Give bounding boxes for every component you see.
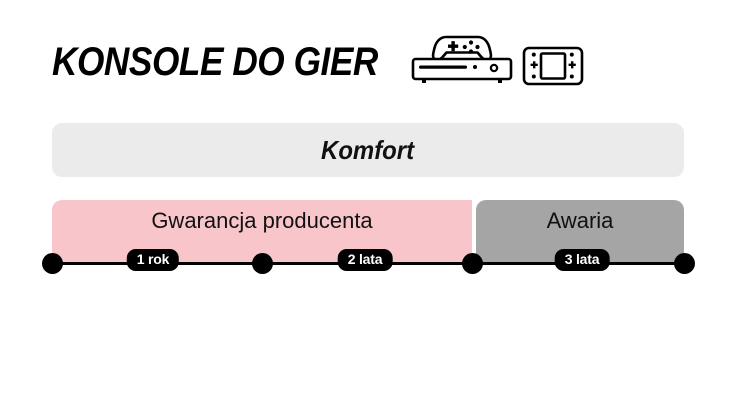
timeline: 1 rok 2 lata 3 lata (0, 259, 730, 299)
handheld-console-icon (522, 45, 584, 92)
timeline-dot (42, 253, 63, 274)
game-console-with-controller-icon (410, 31, 514, 92)
phase-label-failure: Awaria (547, 208, 614, 234)
timeline-dot (462, 253, 483, 274)
header: KONSOLE DO GIER (52, 34, 584, 90)
komfort-band: Komfort (52, 123, 684, 177)
page-title: KONSOLE DO GIER (52, 42, 378, 82)
komfort-band-label: Komfort (321, 135, 414, 166)
infographic-root: KONSOLE DO GIER (0, 0, 730, 410)
timeline-dot (252, 253, 273, 274)
timeline-marker-1-rok: 1 rok (127, 249, 179, 271)
timeline-dot (674, 253, 695, 274)
timeline-marker-2-lata: 2 lata (338, 249, 393, 271)
phase-label-warranty: Gwarancja producenta (151, 208, 372, 234)
header-icon-group (410, 31, 584, 94)
timeline-marker-3-lata: 3 lata (555, 249, 610, 271)
